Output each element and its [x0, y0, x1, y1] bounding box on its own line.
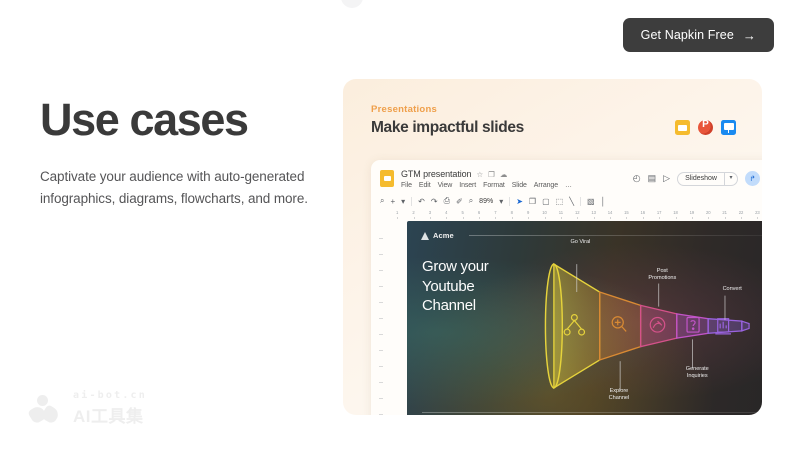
arrow-right-icon: → — [743, 29, 756, 42]
cloud-icon: ☁ — [500, 170, 508, 179]
ruler-tick: 21 — [717, 210, 733, 219]
ruler-tick: 2 — [405, 210, 421, 219]
ruler-tick: 11 — [553, 210, 569, 219]
funnel-label-convert: Convert — [696, 286, 762, 293]
ruler-tick: 18 — [667, 210, 683, 219]
slides-header-actions: ◴ ▤ ▷ Slideshow ▾ ↱ a — [633, 169, 762, 186]
funnel-label-generate-inquiries: GenerateInquiries — [658, 366, 738, 380]
print-icon[interactable]: ⎙ — [444, 196, 450, 206]
page-root: Get Napkin Free → Use cases Captivate yo… — [0, 0, 800, 450]
share-button[interactable]: ↱ — [745, 171, 760, 186]
menu-overflow[interactable]: … — [565, 182, 572, 189]
paint-format-icon[interactable]: ✐ — [456, 197, 463, 206]
slides-document-icon — [380, 170, 394, 187]
ruler-tick: 6 — [471, 210, 487, 219]
decorative-blob — [341, 0, 363, 8]
get-napkin-free-button[interactable]: Get Napkin Free → — [623, 18, 774, 52]
menu-item-file[interactable]: File — [401, 182, 412, 189]
ruler-tick: 23 — [749, 210, 762, 219]
ruler-tick: 4 — [438, 210, 454, 219]
redo-icon[interactable]: ↷ — [431, 197, 438, 206]
keynote-icon — [721, 120, 736, 135]
ruler-tick: 14 — [602, 210, 618, 219]
supported-apps — [675, 120, 736, 135]
watermark-logo-icon — [30, 395, 64, 423]
funnel-diagram: Go Viral ExploreChannel PostPromotions G… — [537, 235, 762, 415]
acme-logo-icon — [421, 232, 429, 240]
funnel-label-explore-channel: ExploreChannel — [583, 388, 655, 402]
undo-icon[interactable]: ↶ — [418, 197, 425, 206]
new-slide-caret-icon[interactable]: ▾ — [401, 197, 405, 206]
ruler-tick: 17 — [651, 210, 667, 219]
textbox-tool-icon[interactable]: ❐ — [529, 197, 536, 206]
slide-brand: Acme — [421, 231, 454, 240]
ruler-tick: 22 — [733, 210, 749, 219]
ruler-tick: 1 — [389, 210, 405, 219]
new-slide-icon[interactable]: + — [390, 197, 395, 206]
star-icon[interactable]: ☆ — [476, 170, 483, 179]
ruler-tick: 15 — [618, 210, 634, 219]
slideshow-button[interactable]: Slideshow ▾ — [677, 172, 738, 186]
funnel-label-go-viral: Go Viral — [542, 239, 619, 246]
chevron-down-icon[interactable]: ▾ — [724, 172, 737, 185]
document-title[interactable]: GTM presentation — [401, 169, 471, 179]
more-tool-icon[interactable]: │ — [601, 197, 606, 206]
slide-title: Grow yourYoutubeChannel — [422, 257, 489, 316]
page-title: Use cases — [40, 96, 310, 144]
google-slides-icon — [675, 120, 690, 135]
line-tool-icon[interactable]: ╲ — [569, 197, 574, 206]
menu-bar: File Edit View Insert Format Slide Arran… — [401, 182, 572, 189]
shape-tool-icon[interactable]: ⬚ — [556, 197, 564, 206]
comment-icon[interactable]: ▤ — [648, 173, 657, 184]
ruler-tick: 8 — [504, 210, 520, 219]
menu-item-view[interactable]: View — [438, 182, 453, 189]
slide-canvas[interactable]: Acme Grow yourYoutubeChannel — [407, 221, 762, 415]
menu-item-format[interactable]: Format — [483, 182, 505, 189]
ruler-tick: 19 — [684, 210, 700, 219]
image-tool-icon[interactable]: ▢ — [542, 197, 550, 206]
use-case-card: Presentations Make impactful slides GTM … — [343, 79, 762, 415]
zoom-level[interactable]: 89% — [479, 198, 493, 205]
meet-icon[interactable]: ▷ — [663, 173, 670, 184]
slideshow-label: Slideshow — [678, 175, 724, 182]
ruler-tick: 3 — [422, 210, 438, 219]
horizontal-ruler[interactable]: 123456789101112131415161718192021222324 — [389, 210, 762, 219]
zoom-icon[interactable]: ⌕ — [469, 196, 473, 206]
menu-item-slide[interactable]: Slide — [512, 182, 527, 189]
google-slides-window: GTM presentation ☆ ❐ ☁ File Edit View In… — [371, 160, 762, 415]
hero-subcopy: Captivate your audience with auto-genera… — [40, 166, 310, 210]
select-tool-icon[interactable]: ➤ — [516, 197, 523, 206]
move-icon[interactable]: ❐ — [488, 170, 495, 179]
ruler-tick: 12 — [569, 210, 585, 219]
card-category-label: Presentations — [371, 104, 437, 115]
hero-text-block: Use cases Captivate your audience with a… — [40, 96, 310, 209]
slides-toolbar: ⌕ + ▾ ↶ ↷ ⎙ ✐ ⌕ 89% ▾ ➤ ❐ ▢ ⬚ ╲ ▧ │ — [371, 192, 762, 210]
card-headline: Make impactful slides — [371, 119, 524, 137]
funnel-label-post-promotions: PostPromotions — [624, 268, 701, 282]
watermark: ai-bot.cn AI工具集 — [30, 390, 147, 427]
search-icon[interactable]: ⌕ — [380, 196, 384, 206]
watermark-name: AI工具集 — [73, 402, 147, 427]
ruler-tick: 5 — [455, 210, 471, 219]
ruler-tick: 7 — [487, 210, 503, 219]
ruler-tick: 13 — [586, 210, 602, 219]
ruler-tick: 16 — [635, 210, 651, 219]
menu-item-arrange[interactable]: Arrange — [534, 182, 558, 189]
ruler-tick: 10 — [536, 210, 552, 219]
powerpoint-icon — [698, 120, 713, 135]
brand-name: Acme — [433, 231, 454, 240]
watermark-domain: ai-bot.cn — [73, 390, 147, 401]
vertical-ruler[interactable] — [377, 224, 386, 415]
cta-label: Get Napkin Free — [641, 28, 734, 42]
slides-header: GTM presentation ☆ ❐ ☁ File Edit View In… — [371, 160, 762, 189]
menu-item-edit[interactable]: Edit — [419, 182, 431, 189]
ruler-tick: 9 — [520, 210, 536, 219]
ruler-tick: 20 — [700, 210, 716, 219]
history-icon[interactable]: ◴ — [633, 173, 641, 184]
menu-item-insert[interactable]: Insert — [459, 182, 476, 189]
zoom-caret-icon[interactable]: ▾ — [499, 197, 503, 206]
comment-tool-icon[interactable]: ▧ — [587, 197, 595, 206]
